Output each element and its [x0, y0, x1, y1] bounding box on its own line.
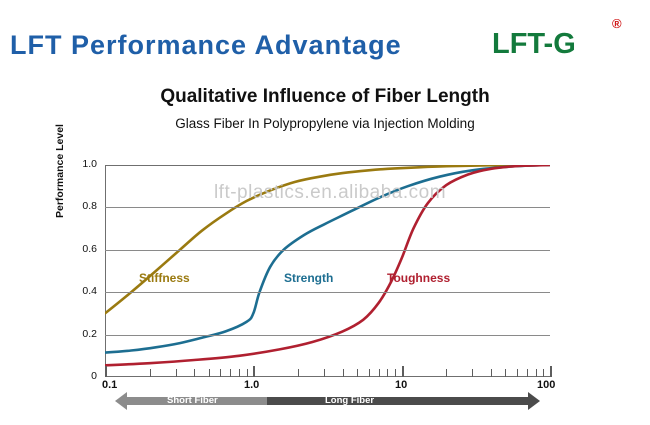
fiber-length-scale-bar: Short Fiber Long Fiber	[115, 392, 540, 410]
x-minor-tick	[324, 369, 325, 377]
y-gridline	[105, 335, 550, 336]
x-minor-tick	[527, 369, 528, 377]
y-tick-label: 0	[63, 370, 97, 382]
x-minor-tick	[472, 369, 473, 377]
brand-text: LFT-G	[492, 28, 576, 60]
x-minor-tick	[230, 369, 231, 377]
chart-title: Qualitative Influence of Fiber Length	[0, 86, 650, 108]
x-minor-tick	[343, 369, 344, 377]
x-minor-tick	[220, 369, 221, 377]
x-major-tick	[105, 366, 107, 377]
short-fiber-label: Short Fiber	[167, 395, 218, 406]
x-minor-tick	[194, 369, 195, 377]
registered-mark-icon: ®	[612, 16, 622, 31]
y-tick-label: 0.6	[63, 243, 97, 255]
y-tick-label: 1.0	[63, 158, 97, 170]
x-minor-tick	[247, 369, 248, 377]
series-label-strength: Strength	[284, 271, 333, 285]
x-minor-tick	[505, 369, 506, 377]
series-curve-strength	[105, 165, 550, 353]
series-label-stiffness: Stiffness	[139, 271, 190, 285]
x-tick-label: 100	[537, 379, 555, 391]
x-major-tick	[253, 366, 255, 377]
x-minor-tick	[517, 369, 518, 377]
y-gridline	[105, 207, 550, 208]
x-minor-tick	[150, 369, 151, 377]
right-arrow-icon	[528, 392, 540, 410]
y-gridline	[105, 292, 550, 293]
x-minor-tick	[176, 369, 177, 377]
x-tick-label: 1.0	[244, 379, 259, 391]
y-gridline	[105, 250, 550, 251]
page-title: LFT Performance Advantage	[10, 30, 402, 61]
long-fiber-bar	[267, 397, 528, 405]
x-minor-tick	[239, 369, 240, 377]
y-tick-label: 0.2	[63, 328, 97, 340]
series-label-toughness: Toughness	[387, 271, 450, 285]
x-minor-tick	[491, 369, 492, 377]
x-minor-tick	[369, 369, 370, 377]
left-arrow-icon	[115, 392, 127, 410]
x-tick-label: 0.1	[102, 379, 117, 391]
x-tick-label: 10	[395, 379, 407, 391]
x-minor-tick	[536, 369, 537, 377]
x-minor-tick	[543, 369, 544, 377]
x-minor-tick	[357, 369, 358, 377]
x-minor-tick	[298, 369, 299, 377]
y-tick-label: 0.4	[63, 285, 97, 297]
x-major-tick	[550, 366, 552, 377]
chart-subtitle: Glass Fiber In Polypropylene via Injecti…	[0, 116, 650, 131]
brand-logo: LFT-G ®	[492, 28, 576, 61]
screenshot-root: LFT Performance Advantage LFT-G ® Qualit…	[0, 0, 650, 425]
long-fiber-label: Long Fiber	[325, 395, 374, 406]
x-minor-tick	[379, 369, 380, 377]
x-minor-tick	[395, 369, 396, 377]
y-tick-label: 0.8	[63, 200, 97, 212]
x-minor-tick	[209, 369, 210, 377]
x-minor-tick	[446, 369, 447, 377]
chart-plot-area: Stiffness Strength Toughness 00.20.40.60…	[105, 165, 550, 377]
x-major-tick	[402, 366, 404, 377]
x-minor-tick	[387, 369, 388, 377]
